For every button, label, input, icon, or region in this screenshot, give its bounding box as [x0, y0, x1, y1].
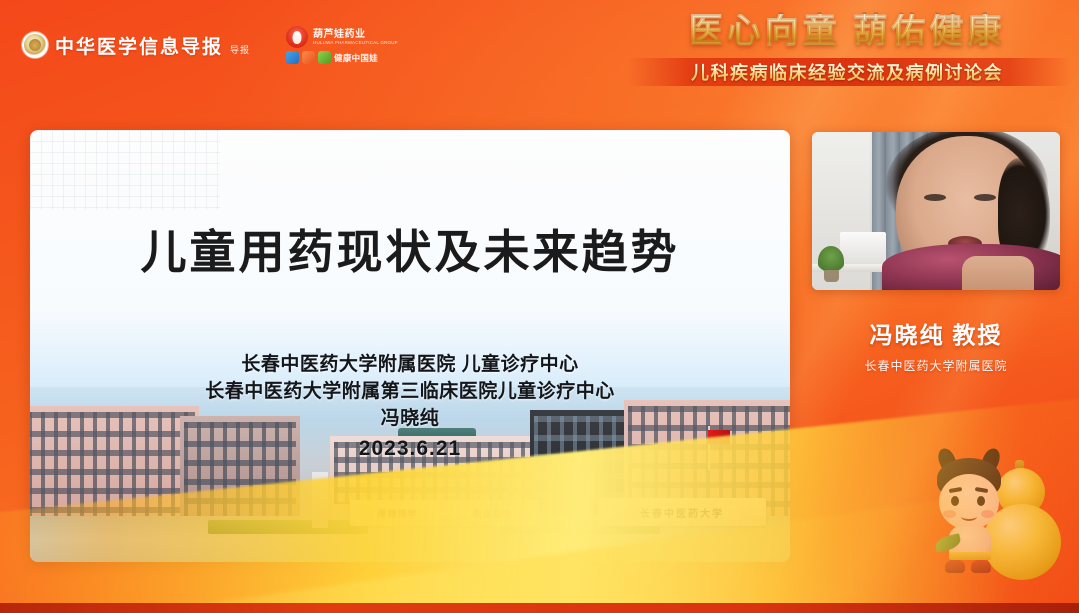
video-box [840, 232, 886, 264]
event-subtitle: 儿科疾病临床经验交流及病例讨论会 [637, 59, 1057, 85]
sponsor-name-text: 葫芦娃药业 [313, 29, 366, 40]
event-title: 医心向童 葫佑健康 [637, 14, 1057, 50]
slide-line: 长春中医药大学附属医院 儿童诊疗中心 [30, 352, 790, 379]
event-subtitle-band: 儿科疾病临床经验交流及病例讨论会 [637, 56, 1057, 88]
speaker-info: 冯晓纯 教授 长春中医药大学附属医院 [812, 316, 1060, 374]
sponsor-logo: 葫芦娃药业 HULUWA PHARMACEUTICAL GROUP 健康中国娃 [286, 26, 398, 64]
sponsor-name-latin: HULUWA PHARMACEUTICAL GROUP [313, 40, 398, 45]
sponsor-logo-primary: 葫芦娃药业 HULUWA PHARMACEUTICAL GROUP [286, 26, 398, 48]
speaker-name: 冯晓纯 教授 [812, 316, 1060, 350]
sponsor-tagline: 健康中国娃 [334, 52, 378, 64]
slide-subtitle-block: 长春中医药大学附属医院 儿童诊疗中心 长春中医药大学附属第三临床医院儿童诊疗中心… [30, 352, 790, 464]
bottom-edge-bar [0, 603, 1079, 613]
event-banner: 医心向童 葫佑健康 儿科疾病临床经验交流及病例讨论会 [637, 14, 1057, 88]
publisher-name: 中华医学信息导报 [55, 32, 223, 59]
speaker-organization: 长春中医药大学附属医院 [812, 357, 1060, 374]
sponsor-logo-secondary: 健康中国娃 [286, 51, 398, 64]
sponsor-name: 葫芦娃药业 HULUWA PHARMACEUTICAL GROUP [313, 29, 398, 46]
slide-title: 儿童用药现状及未来趋势 [30, 216, 790, 282]
slide-line: 长春中医药大学附属第三临床医院儿童诊疗中心 [30, 379, 790, 406]
gourd-brand-icon [286, 26, 308, 48]
publisher-suffix: 导报 [230, 43, 250, 59]
slide-line: 冯晓纯 [30, 406, 790, 433]
publisher-logo: 中华医学信息导报 导报 [22, 32, 250, 59]
logo-bar: 中华医学信息导报 导报 葫芦娃药业 HULUWA PHARMACEUTICAL … [22, 26, 398, 64]
speaker-neck [962, 256, 1034, 290]
broadcast-stage: 中华医学信息导报 导报 葫芦娃药业 HULUWA PHARMACEUTICAL … [0, 0, 1079, 613]
video-plant-pot [824, 270, 839, 282]
slide-grid-texture [30, 130, 220, 210]
cma-seal-icon [22, 32, 48, 58]
chip-icon [302, 51, 315, 64]
chip-icon [318, 51, 331, 64]
slide-date: 2023.6.21 [30, 434, 790, 464]
speaker-eye [974, 194, 996, 201]
speaker-eye [924, 194, 946, 201]
speaker-video-feed[interactable] [812, 132, 1060, 290]
chip-icon [286, 51, 299, 64]
